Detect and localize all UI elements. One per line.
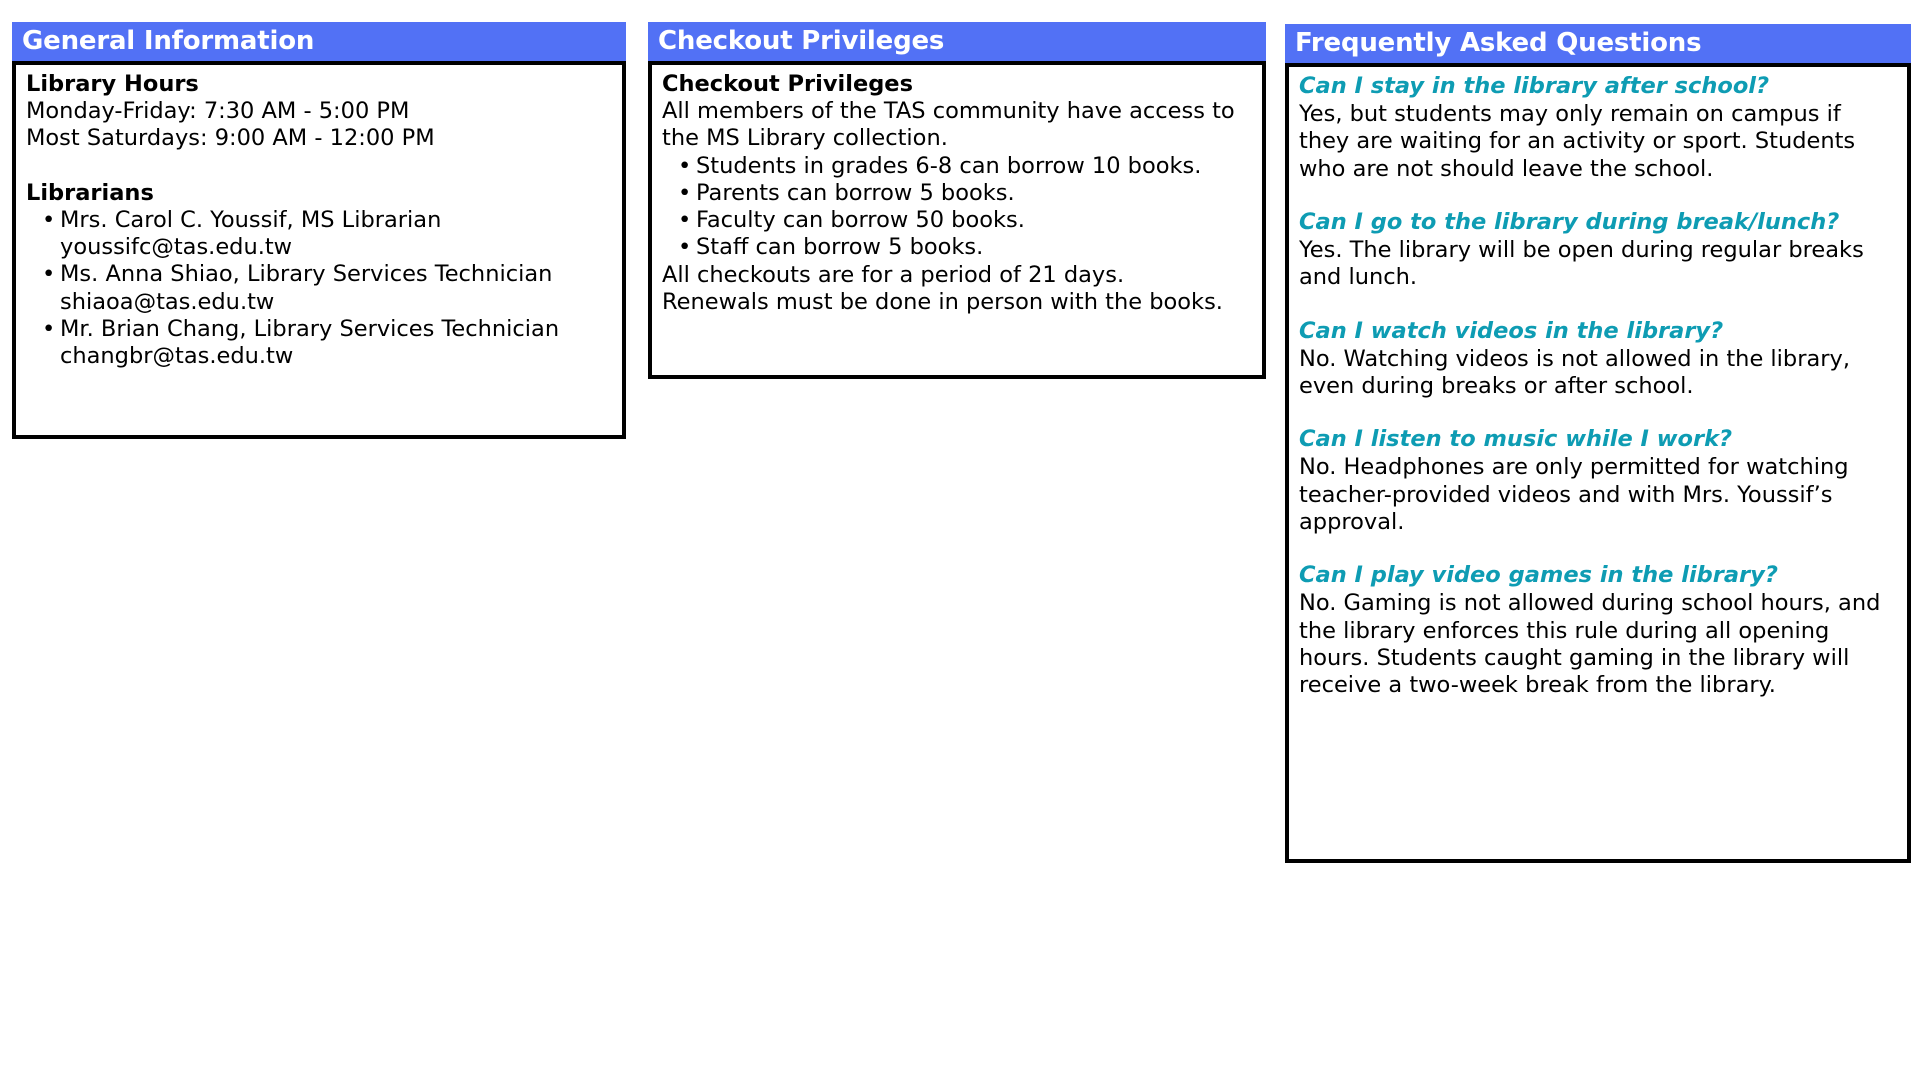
- faq-answer: No. Headphones are only permitted for wa…: [1299, 454, 1897, 536]
- faq-answer: No. Watching videos is not allowed in th…: [1299, 346, 1897, 400]
- librarian-email[interactable]: youssifc@tas.edu.tw: [60, 234, 612, 261]
- panel-checkout-privileges: Checkout Privileges Checkout Privileges …: [648, 22, 1266, 379]
- panel-general-information: General Information Library Hours Monday…: [12, 22, 626, 439]
- list-item: Parents can borrow 5 books.: [696, 180, 1252, 207]
- page-canvas: General Information Library Hours Monday…: [0, 0, 1920, 1080]
- librarians-title: Librarians: [26, 180, 612, 207]
- hours-librarians-spacer: [26, 153, 612, 180]
- panel-faq-body: Can I stay in the library after school? …: [1285, 63, 1911, 863]
- faq-answer: Yes. The library will be open during reg…: [1299, 237, 1897, 291]
- panel-faq-header: Frequently Asked Questions: [1285, 24, 1911, 63]
- checkout-limits-list: Students in grades 6-8 can borrow 10 boo…: [662, 153, 1252, 262]
- panel-faq: Frequently Asked Questions Can I stay in…: [1285, 24, 1911, 863]
- panel-general-information-body: Library Hours Monday-Friday: 7:30 AM - 5…: [12, 61, 626, 439]
- librarian-name: Mr. Brian Chang, Library Services Techni…: [60, 316, 612, 343]
- librarian-email[interactable]: changbr@tas.edu.tw: [60, 343, 612, 370]
- librarian-email[interactable]: shiaoa@tas.edu.tw: [60, 289, 612, 316]
- list-item: Students in grades 6-8 can borrow 10 boo…: [696, 153, 1252, 180]
- faq-entry: Can I listen to music while I work? No. …: [1299, 426, 1897, 536]
- checkout-renewal-text: Renewals must be done in person with the…: [662, 289, 1252, 316]
- librarian-name: Ms. Anna Shiao, Library Services Technic…: [60, 261, 612, 288]
- checkout-period-text: All checkouts are for a period of 21 day…: [662, 262, 1252, 289]
- panel-checkout-privileges-body: Checkout Privileges All members of the T…: [648, 61, 1266, 379]
- faq-entry: Can I play video games in the library? N…: [1299, 562, 1897, 699]
- list-item: Mrs. Carol C. Youssif, MS Librarian yous…: [60, 207, 612, 261]
- faq-entry: Can I stay in the library after school? …: [1299, 73, 1897, 183]
- faq-question[interactable]: Can I listen to music while I work?: [1299, 426, 1897, 453]
- list-item: Ms. Anna Shiao, Library Services Technic…: [60, 261, 612, 315]
- checkout-section-title: Checkout Privileges: [662, 71, 1252, 98]
- librarians-list: Mrs. Carol C. Youssif, MS Librarian yous…: [26, 207, 612, 370]
- faq-question[interactable]: Can I watch videos in the library?: [1299, 318, 1897, 345]
- list-item: Faculty can borrow 50 books.: [696, 207, 1252, 234]
- checkout-intro-text: All members of the TAS community have ac…: [662, 98, 1252, 152]
- panel-checkout-privileges-header: Checkout Privileges: [648, 22, 1266, 61]
- list-item: Mr. Brian Chang, Library Services Techni…: [60, 316, 612, 370]
- faq-entry: Can I watch videos in the library? No. W…: [1299, 318, 1897, 401]
- library-hours-weekday: Monday-Friday: 7:30 AM - 5:00 PM: [26, 98, 612, 125]
- panel-general-information-header: General Information: [12, 22, 626, 61]
- librarian-name: Mrs. Carol C. Youssif, MS Librarian: [60, 207, 612, 234]
- faq-answer: Yes, but students may only remain on cam…: [1299, 101, 1897, 183]
- library-hours-title: Library Hours: [26, 71, 612, 98]
- library-hours-saturday: Most Saturdays: 9:00 AM - 12:00 PM: [26, 125, 612, 152]
- list-item: Staff can borrow 5 books.: [696, 234, 1252, 261]
- faq-question[interactable]: Can I play video games in the library?: [1299, 562, 1897, 589]
- faq-answer: No. Gaming is not allowed during school …: [1299, 590, 1897, 699]
- faq-entry: Can I go to the library during break/lun…: [1299, 209, 1897, 292]
- faq-question[interactable]: Can I stay in the library after school?: [1299, 73, 1897, 100]
- faq-question[interactable]: Can I go to the library during break/lun…: [1299, 209, 1897, 236]
